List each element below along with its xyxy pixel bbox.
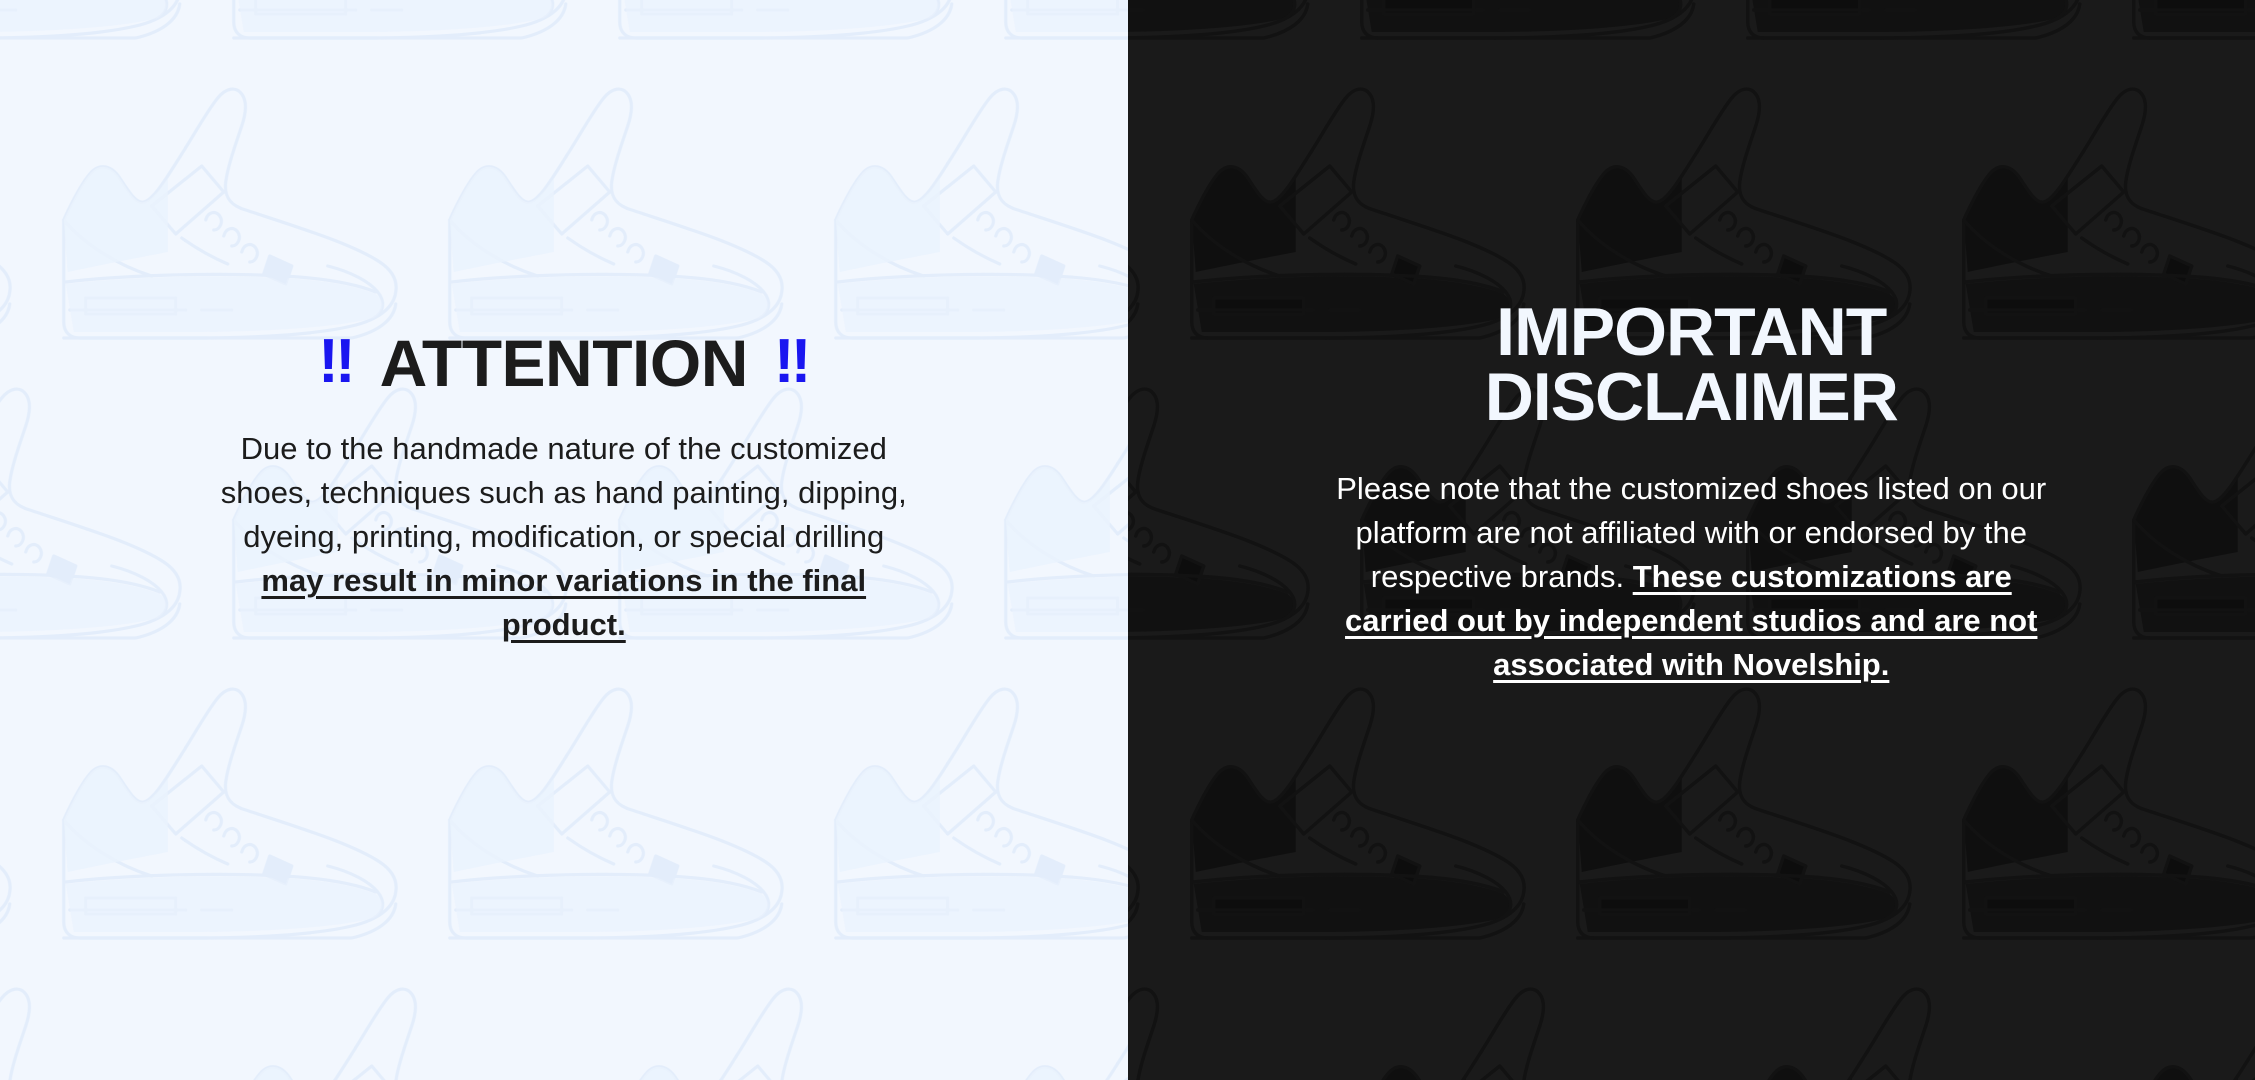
attention-content: ‼ ATTENTION ‼ Due to the handmade nature… [0,0,1128,647]
attention-heading: ‼ ATTENTION ‼ [318,330,809,397]
attention-heading-text: ATTENTION [380,330,748,397]
attention-body-emphasis: may result in minor variations in the fi… [261,563,866,642]
disclaimer-banner: ‼ ATTENTION ‼ Due to the handmade nature… [0,0,2255,1080]
attention-panel: ‼ ATTENTION ‼ Due to the handmade nature… [0,0,1128,1080]
double-exclamation-icon-right: ‼ [774,331,809,393]
attention-body: Due to the handmade nature of the custom… [214,427,914,647]
double-exclamation-icon-left: ‼ [318,331,353,393]
disclaimer-content: IMPORTANT DISCLAIMER Please note that th… [1128,0,2255,687]
disclaimer-panel: IMPORTANT DISCLAIMER Please note that th… [1128,0,2255,1080]
disclaimer-heading-line-2: DISCLAIMER [1485,359,1898,435]
disclaimer-body: Please note that the customized shoes li… [1321,467,2061,687]
disclaimer-heading: IMPORTANT DISCLAIMER [1485,300,1898,431]
attention-body-plain: Due to the handmade nature of the custom… [221,431,907,554]
